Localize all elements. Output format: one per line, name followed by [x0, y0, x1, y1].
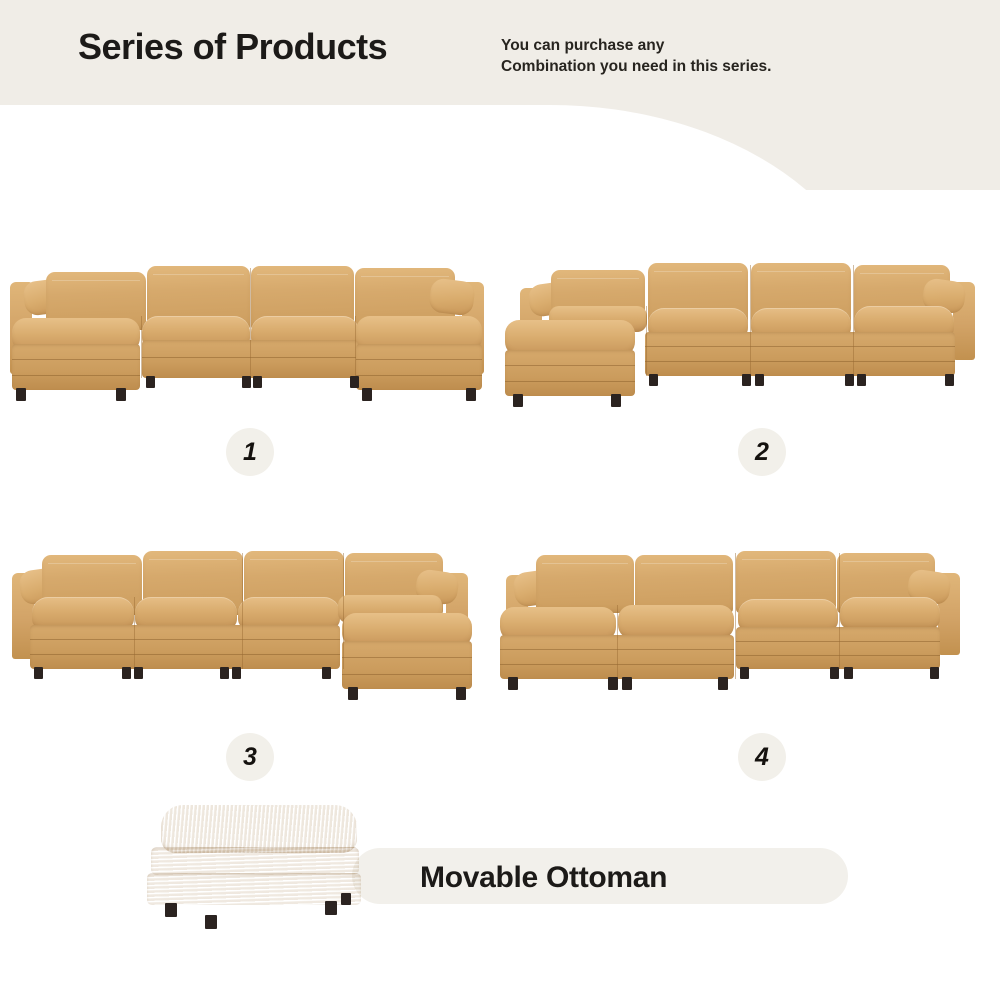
subtitle-line-2: Combination you need in this series. — [501, 57, 771, 78]
sofa-configuration-4 — [500, 545, 980, 695]
back-cushion-1 — [536, 555, 634, 613]
badge-configuration-4: 4 — [738, 733, 786, 781]
left-chaise-base — [505, 350, 635, 396]
header-curve-shape — [0, 105, 880, 190]
badge-label: 1 — [243, 438, 257, 467]
movable-ottoman-label: Movable Ottoman — [420, 861, 667, 895]
main-base — [645, 332, 955, 376]
badge-configuration-1: 1 — [226, 428, 274, 476]
right-chaise-base — [356, 344, 482, 390]
movable-ottoman-illustration — [145, 805, 385, 930]
seat-cushion-2 — [840, 597, 940, 629]
right-base — [736, 627, 940, 669]
badge-label: 3 — [243, 743, 257, 772]
page-title: Series of Products — [78, 26, 387, 68]
page-subtitle: You can purchase any Combination you nee… — [501, 36, 771, 78]
left-chaise-pad-2 — [618, 605, 734, 639]
left-chaise-base — [12, 344, 140, 390]
sofa-configuration-2 — [505, 258, 980, 408]
subtitle-line-1: You can purchase any — [501, 36, 771, 57]
ottoman-upper-body — [151, 847, 359, 875]
product-series-infographic: Series of Products You can purchase any … — [0, 0, 1000, 1000]
sofa-configuration-1 — [10, 258, 490, 408]
badge-label: 2 — [755, 438, 769, 467]
right-arm-bolster — [428, 277, 476, 316]
badge-configuration-2: 2 — [738, 428, 786, 476]
right-chaise-base — [342, 641, 472, 689]
badge-configuration-3: 3 — [226, 733, 274, 781]
ottoman-top-pillow — [161, 805, 357, 853]
main-base — [30, 625, 340, 669]
badge-label: 4 — [755, 743, 769, 772]
sofa-configuration-3 — [12, 545, 492, 695]
